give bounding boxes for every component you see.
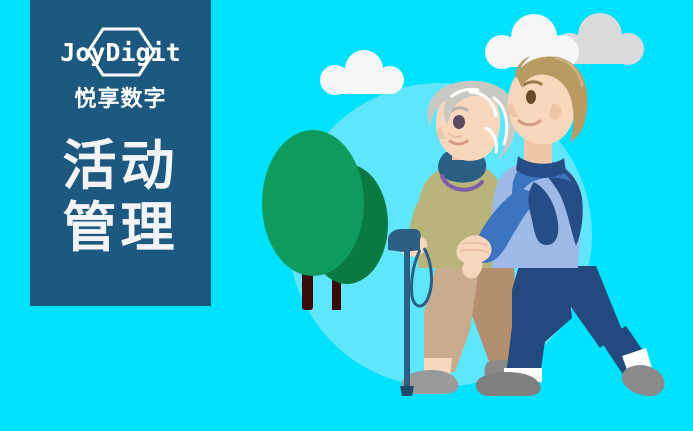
logo-block: JoyDigit (46, 26, 196, 78)
brand-chinese-name: 悦享数字 (74, 89, 166, 111)
brand-panel: JoyDigit 悦享数字 活动 管理 (30, 0, 211, 306)
poster-canvas: JoyDigit 悦享数字 活动 管理 (0, 0, 693, 431)
logo-wordmark: JoyDigit (60, 40, 180, 65)
elderly-eye (453, 115, 465, 129)
page-title: 活动 管理 (63, 137, 179, 258)
cane-shaft (404, 250, 410, 388)
cane-tip (400, 386, 414, 396)
young-man-eye (526, 90, 536, 104)
page-title-line-2: 管理 (63, 199, 179, 257)
page-title-line-1: 活动 (63, 137, 179, 195)
cane-handle (388, 229, 421, 252)
